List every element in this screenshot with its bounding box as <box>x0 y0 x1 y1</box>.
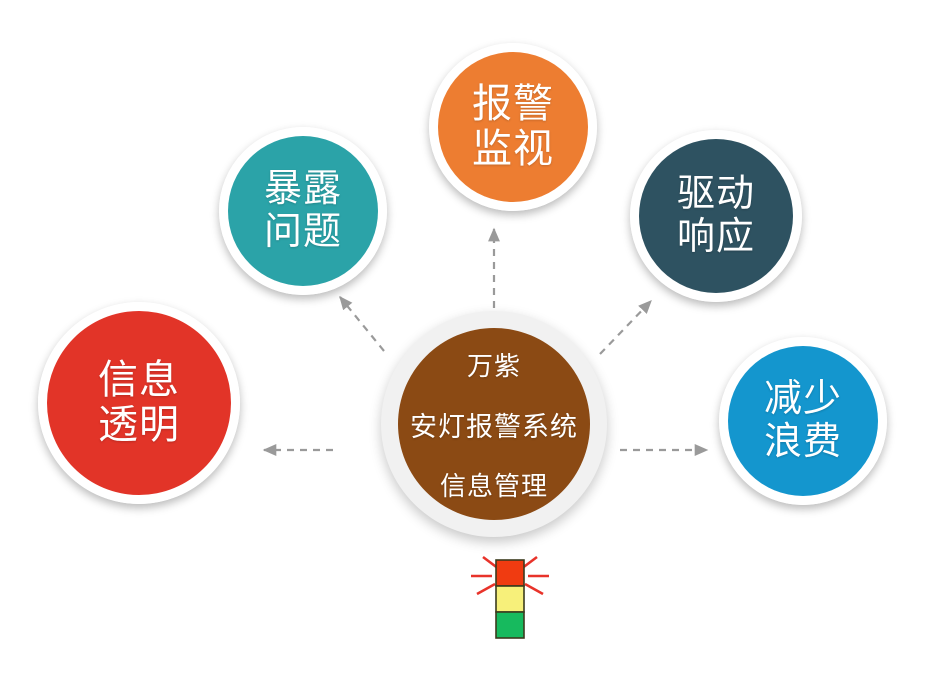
node-label-drive-response: 驱动 响应 <box>677 173 755 258</box>
center-hub-line-3: 信息管理 <box>440 466 548 503</box>
red-lamp <box>496 560 524 586</box>
connector-hub-to-expose-problems <box>340 297 384 351</box>
node-drive-response[interactable]: 驱动 响应 <box>630 130 802 302</box>
node-label-information-transparency: 信息 透明 <box>98 358 180 448</box>
center-hub-line-2: 安灯报警系统 <box>410 405 578 444</box>
node-label-reduce-waste: 减少 浪费 <box>764 378 842 463</box>
node-label-alarm-monitoring: 报警 监视 <box>472 82 554 172</box>
node-label-expose-problems: 暴露 问题 <box>264 168 342 253</box>
diagram-canvas: 万紫 安灯报警系统 信息管理 报警 监视 暴露 问题 驱动 响应 信息 透明 减… <box>0 0 939 680</box>
yellow-lamp <box>496 586 524 612</box>
green-lamp <box>496 612 524 638</box>
connector-hub-to-drive-response <box>600 301 651 354</box>
node-alarm-monitoring[interactable]: 报警 监视 <box>429 43 597 211</box>
flash-ray <box>477 584 495 594</box>
center-hub[interactable]: 万紫 安灯报警系统 信息管理 <box>381 311 607 537</box>
node-information-transparency[interactable]: 信息 透明 <box>38 302 240 504</box>
node-reduce-waste[interactable]: 减少 浪费 <box>719 337 887 505</box>
node-expose-problems[interactable]: 暴露 问题 <box>219 127 387 295</box>
center-hub-line-1: 万紫 <box>467 346 521 383</box>
andon-lamp-stack <box>496 560 524 638</box>
andon-light-tower <box>455 549 565 659</box>
flash-ray <box>525 584 543 594</box>
